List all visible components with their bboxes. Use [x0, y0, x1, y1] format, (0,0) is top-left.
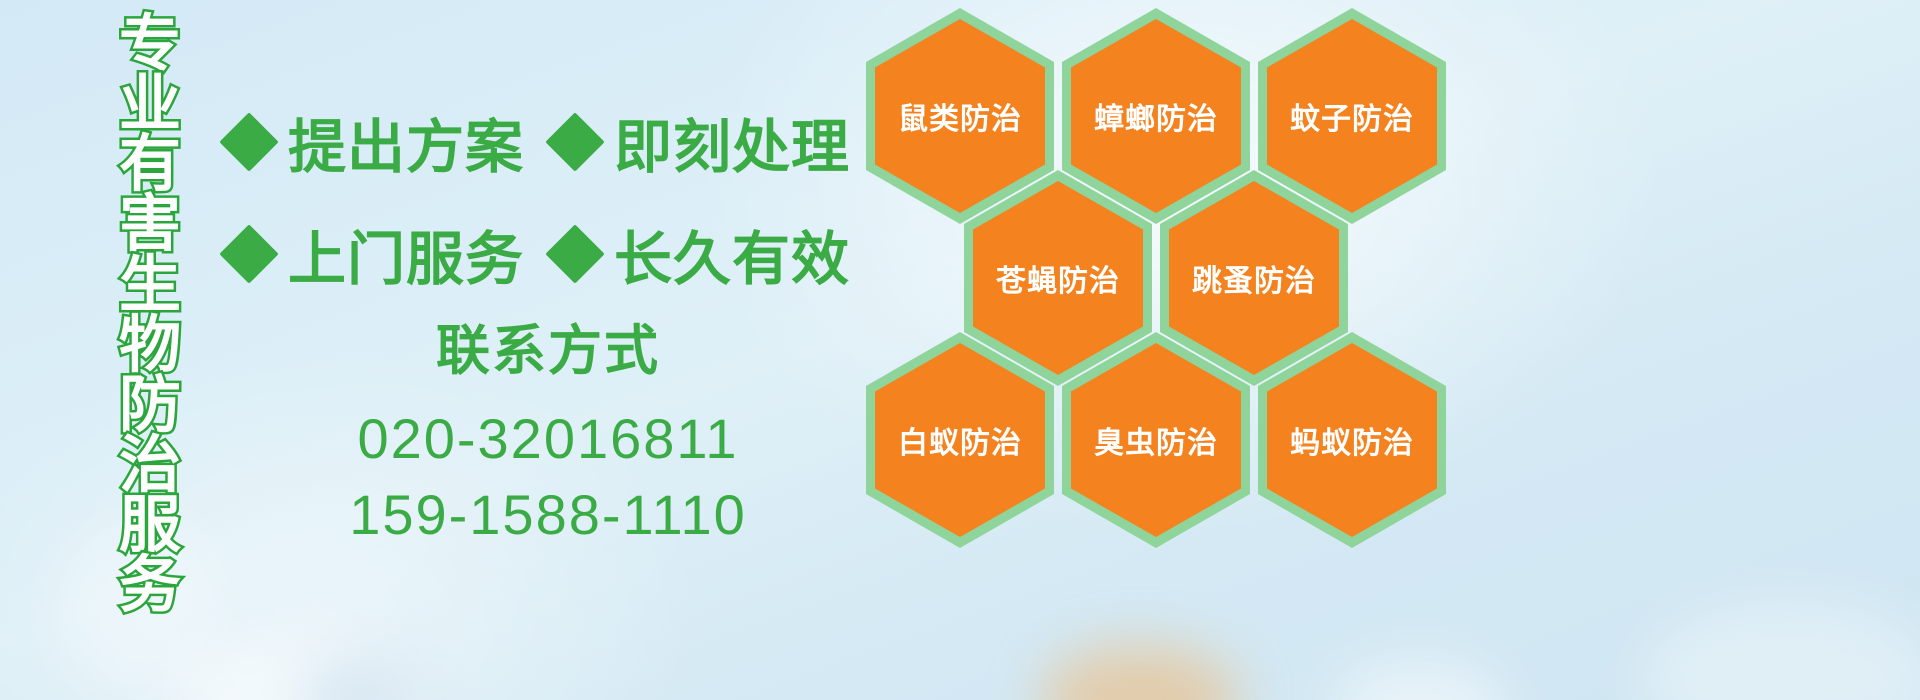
vertical-headline-char: 业 — [119, 74, 181, 134]
service-label: 蚂蚁防治 — [1290, 418, 1414, 462]
vertical-headline-char: 有 — [119, 134, 181, 194]
feature-item-immediate-handling: 即刻处理 — [554, 100, 850, 184]
service-hexagon-bedbug[interactable]: 臭虫防治 — [1062, 332, 1250, 548]
background-blur-blob — [1040, 645, 1240, 700]
vertical-headline-char: 物 — [119, 315, 181, 375]
service-label: 苍蝇防治 — [996, 256, 1120, 300]
feature-label: 提出方案 — [288, 100, 524, 184]
contact-title: 联系方式 — [228, 306, 868, 385]
contact-block: 联系方式 020-32016811 159-1588-1110 — [228, 306, 868, 552]
feature-list: 提出方案 即刻处理 上门服务 长久有效 — [228, 86, 868, 310]
service-label: 白蚁防治 — [898, 418, 1022, 462]
hexagon-shape: 白蚁防治 — [866, 332, 1054, 548]
service-label: 臭虫防治 — [1094, 418, 1218, 462]
service-label: 鼠类防治 — [898, 94, 1022, 138]
vertical-headline-char: 防 — [119, 375, 181, 435]
vertical-headline-char: 害 — [119, 194, 181, 254]
service-label: 蚊子防治 — [1290, 94, 1414, 138]
service-hexagon-ant[interactable]: 蚂蚁防治 — [1258, 332, 1446, 548]
background-blur-blob — [170, 640, 410, 700]
vertical-headline-char: 生 — [119, 255, 181, 315]
background-blur-blob — [300, 655, 420, 700]
feature-item-long-lasting: 长久有效 — [554, 212, 850, 296]
hexagon-shape: 蚂蚁防治 — [1258, 332, 1446, 548]
hexagon-inner: 蚂蚁防治 — [1267, 343, 1437, 537]
phone-number-mobile[interactable]: 159-1588-1110 — [228, 477, 868, 553]
diamond-icon — [219, 112, 278, 171]
background-blur-blob — [1330, 660, 1510, 700]
feature-item-propose-plan: 提出方案 — [228, 100, 524, 184]
hexagon-inner: 白蚁防治 — [875, 343, 1045, 537]
feature-label: 长久有效 — [614, 212, 850, 296]
promo-banner: 专 业 有 害 生 物 防 治 服 务 提出方案 即刻处理 上门服务 — [0, 0, 1920, 700]
feature-row: 提出方案 即刻处理 — [228, 86, 868, 198]
feature-label: 即刻处理 — [614, 100, 850, 184]
diamond-icon — [545, 224, 604, 283]
service-honeycomb: 鼠类防治 蟑螂防治 蚊子防治 苍蝇防治 — [866, 0, 1446, 560]
diamond-icon — [219, 224, 278, 283]
vertical-headline-char: 专 — [119, 14, 181, 74]
hexagon-shape: 臭虫防治 — [1062, 332, 1250, 548]
vertical-headline-char: 服 — [119, 495, 181, 555]
feature-item-onsite-service: 上门服务 — [228, 212, 524, 296]
diamond-icon — [545, 112, 604, 171]
background-blur-blob — [1640, 600, 1920, 700]
service-label: 蟑螂防治 — [1094, 94, 1218, 138]
feature-row: 上门服务 长久有效 — [228, 198, 868, 310]
vertical-headline-char: 务 — [119, 555, 181, 615]
service-hexagon-termite[interactable]: 白蚁防治 — [866, 332, 1054, 548]
phone-number-landline[interactable]: 020-32016811 — [228, 401, 868, 477]
vertical-headline: 专 业 有 害 生 物 防 治 服 务 — [104, 14, 196, 615]
service-label: 跳蚤防治 — [1192, 256, 1316, 300]
vertical-headline-char: 治 — [119, 435, 181, 495]
feature-label: 上门服务 — [288, 212, 524, 296]
hexagon-inner: 臭虫防治 — [1071, 343, 1241, 537]
